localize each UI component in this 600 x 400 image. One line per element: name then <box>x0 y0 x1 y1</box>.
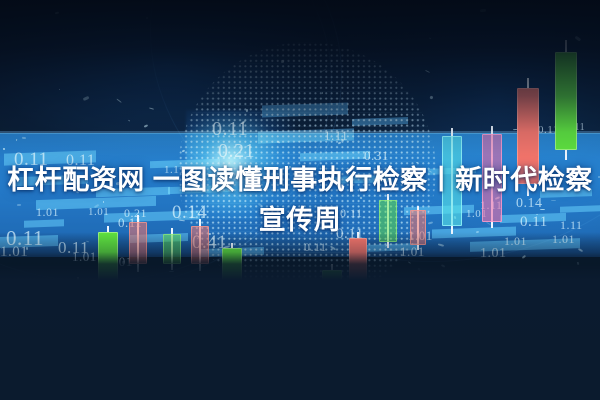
banner-image: 0.110.110.111.011.010.111.011.010.210.11… <box>0 0 600 400</box>
headline-line-2: 宣传周 <box>0 200 600 240</box>
headline-line-1: 杠杆配资网 一图读懂刑事执行检察丨新时代检察 <box>7 165 593 195</box>
page-title: 杠杆配资网 一图读懂刑事执行检察丨新时代检察 宣传周 <box>0 160 600 240</box>
